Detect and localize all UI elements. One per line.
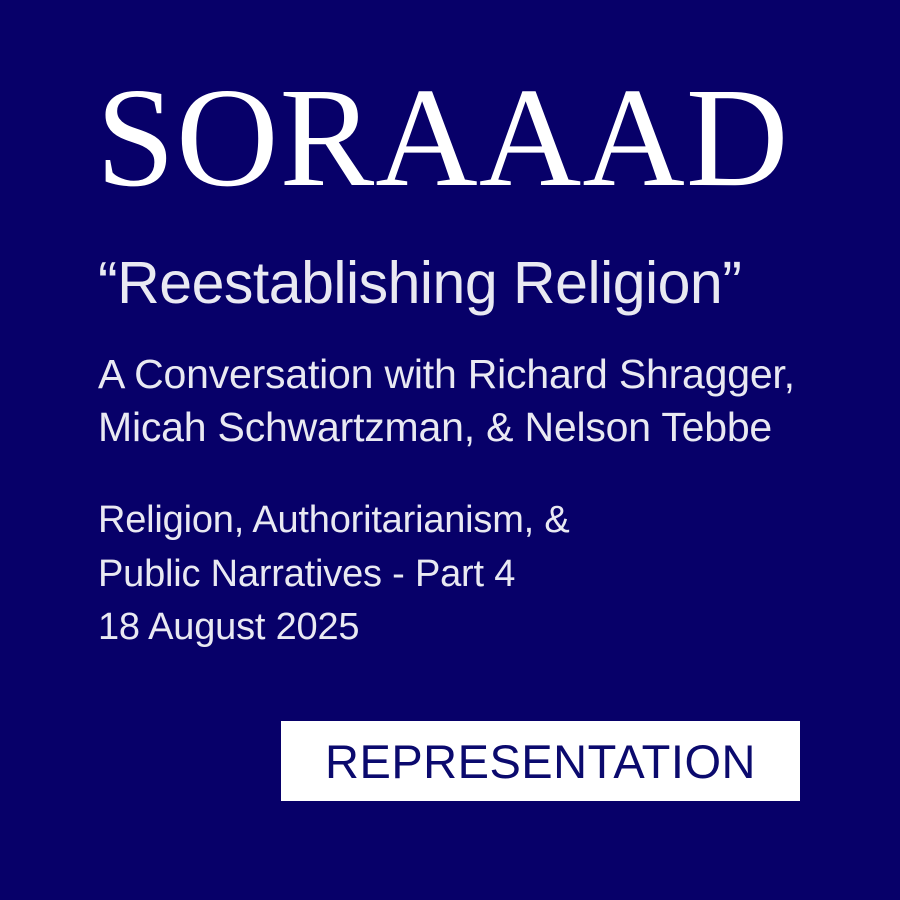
- representation-badge: REPRESENTATION: [281, 721, 800, 801]
- brand-logo-text: SORAAAD: [96, 66, 789, 208]
- series-name-line-1: Religion, Authoritarianism, &: [98, 494, 798, 548]
- brand-logo: SORAAAD: [96, 62, 806, 212]
- speakers-line-2: Micah Schwartzman, & Nelson Tebbe: [98, 401, 858, 454]
- series-name-line-2: Public Narratives - Part 4: [98, 548, 798, 602]
- series-date: 18 August 2025: [98, 601, 798, 655]
- talk-title: “Reestablishing Religion”: [98, 252, 838, 315]
- speakers-block: A Conversation with Richard Shragger, Mi…: [98, 348, 858, 455]
- event-card: SORAAAD “Reestablishing Religion” A Conv…: [0, 0, 900, 900]
- speakers-line-1: A Conversation with Richard Shragger,: [98, 348, 858, 401]
- series-meta-block: Religion, Authoritarianism, & Public Nar…: [98, 494, 798, 655]
- representation-badge-label: REPRESENTATION: [325, 738, 756, 785]
